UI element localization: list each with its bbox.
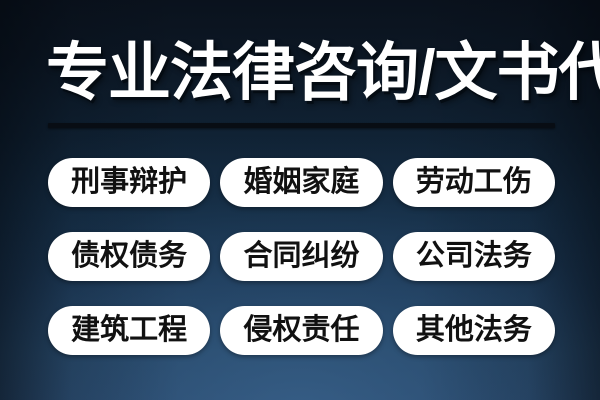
legal-services-poster: 专业法律咨询/文书代写 刑事辩护 婚姻家庭 劳动工伤 债权债务 合同纠纷 公司法… <box>0 0 600 400</box>
title-divider <box>48 123 555 128</box>
service-row: 刑事辩护 婚姻家庭 劳动工伤 <box>48 158 555 207</box>
page-title: 专业法律咨询/文书代写 <box>46 30 556 116</box>
service-pill-debt-claims[interactable]: 债权债务 <box>48 232 210 281</box>
service-pill-marriage-family[interactable]: 婚姻家庭 <box>220 158 382 207</box>
service-pill-construction-engineering[interactable]: 建筑工程 <box>48 306 210 355</box>
service-pill-criminal-defense[interactable]: 刑事辩护 <box>48 158 210 207</box>
service-pill-grid: 刑事辩护 婚姻家庭 劳动工伤 债权债务 合同纠纷 公司法务 建筑工程 侵权责任 … <box>48 158 555 355</box>
service-row: 建筑工程 侵权责任 其他法务 <box>48 306 555 355</box>
service-row: 债权债务 合同纠纷 公司法务 <box>48 232 555 281</box>
service-pill-other-legal[interactable]: 其他法务 <box>393 306 555 355</box>
service-pill-labor-injury[interactable]: 劳动工伤 <box>393 158 555 207</box>
poster-content: 专业法律咨询/文书代写 刑事辩护 婚姻家庭 劳动工伤 债权债务 合同纠纷 公司法… <box>0 0 600 400</box>
service-pill-tort-liability[interactable]: 侵权责任 <box>220 306 382 355</box>
service-pill-contract-disputes[interactable]: 合同纠纷 <box>220 232 382 281</box>
service-pill-corporate-legal[interactable]: 公司法务 <box>393 232 555 281</box>
